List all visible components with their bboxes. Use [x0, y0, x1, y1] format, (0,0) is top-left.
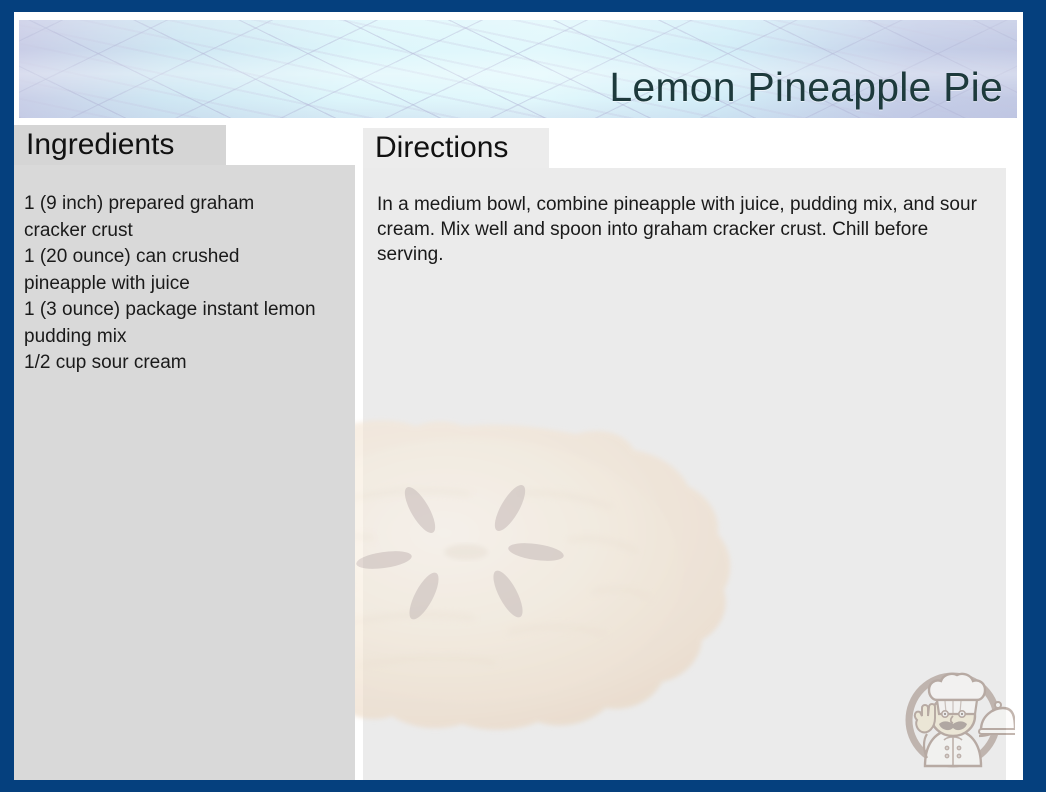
directions-heading: Directions [363, 128, 549, 168]
slide-page: Directions In a medium bowl, combine pin… [14, 12, 1023, 780]
directions-text: In a medium bowl, combine pineapple with… [377, 192, 994, 267]
ingredients-body: 1 (9 inch) prepared graham cracker crust… [14, 165, 355, 780]
ingredients-heading: Ingredients [14, 125, 226, 165]
ingredients-list: 1 (9 inch) prepared graham cracker crust… [24, 191, 345, 377]
directions-body: In a medium bowl, combine pineapple with… [363, 168, 1006, 780]
header-banner: Lemon Pineapple Pie [19, 20, 1017, 118]
directions-panel: Directions In a medium bowl, combine pin… [363, 128, 1006, 780]
page-title: Lemon Pineapple Pie [609, 64, 1003, 111]
ingredients-panel: Ingredients 1 (9 inch) prepared graham c… [14, 125, 355, 780]
